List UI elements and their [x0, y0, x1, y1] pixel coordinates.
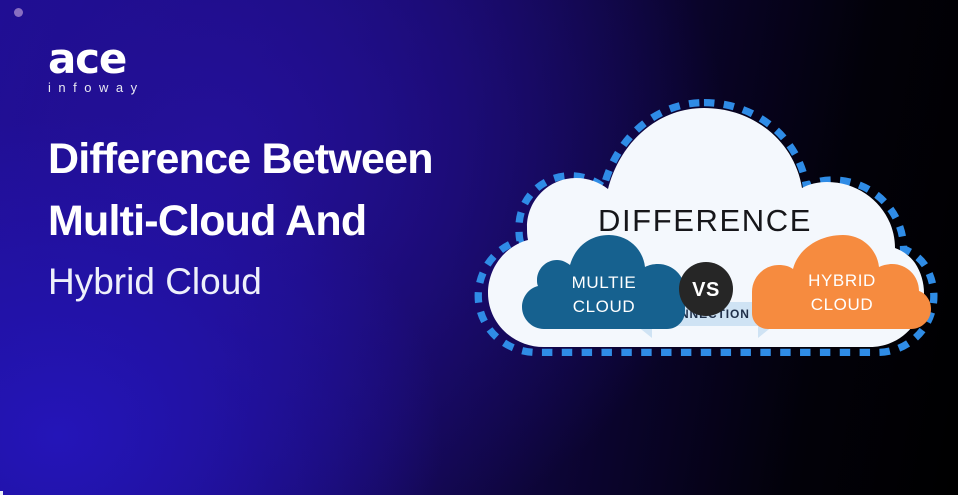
- hybrid-cloud-label-line2: CLOUD: [811, 295, 874, 314]
- multi-cloud-label-line2: CLOUD: [573, 297, 636, 316]
- cloud-comparison-illustration: DIFFERENCE CONNECTION MULTIE CLOUD HYBRI…: [466, 96, 944, 396]
- logo-tagline: infoway: [48, 81, 218, 94]
- logo-wordmark: ace: [48, 38, 218, 80]
- title-line-1: Difference Between: [48, 128, 518, 190]
- brand-logo[interactable]: ace infoway: [48, 38, 218, 94]
- versus-badge: VS: [679, 262, 733, 316]
- hybrid-cloud-label-line1: HYBRID: [808, 271, 876, 290]
- slide-canvas: ace infoway Difference Between Multi-Clo…: [0, 0, 958, 495]
- page-title: Difference Between Multi-Cloud And Hybri…: [48, 128, 518, 310]
- decorative-dot: [14, 8, 23, 17]
- difference-label: DIFFERENCE: [598, 203, 812, 238]
- versus-label: VS: [692, 279, 720, 301]
- multi-cloud-label-line1: MULTIE: [572, 273, 637, 292]
- title-line-3: Hybrid Cloud: [48, 253, 518, 310]
- title-line-2: Multi-Cloud And: [48, 190, 518, 252]
- decorative-corner-pixel: [0, 491, 3, 495]
